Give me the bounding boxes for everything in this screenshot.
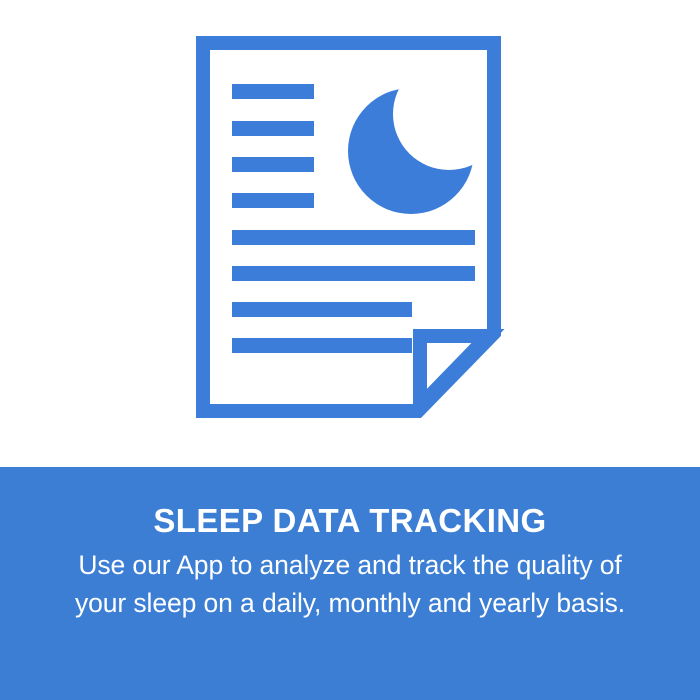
caption-banner: SLEEP DATA TRACKING Use our App to analy…: [0, 467, 700, 700]
sleep-data-tracking-card: SLEEP DATA TRACKING Use our App to analy…: [0, 0, 700, 700]
doc-text-line-5: [232, 230, 475, 245]
doc-text-line-6: [232, 266, 475, 281]
sleep-report-document-icon: [196, 36, 516, 418]
banner-description-line-1: Use our App to analyze and track the qua…: [18, 547, 682, 585]
crescent-moon-icon: [336, 76, 496, 236]
banner-description: Use our App to analyze and track the qua…: [18, 547, 682, 622]
doc-text-line-4: [232, 193, 314, 208]
doc-text-line-1: [232, 84, 314, 99]
banner-description-line-2: your sleep on a daily, monthly and yearl…: [18, 585, 682, 623]
doc-text-line-7: [232, 302, 412, 317]
doc-text-line-8: [232, 338, 412, 353]
banner-title: SLEEP DATA TRACKING: [18, 503, 682, 539]
doc-text-line-3: [232, 157, 314, 172]
illustration-area: [0, 0, 700, 467]
doc-text-line-2: [232, 121, 314, 136]
